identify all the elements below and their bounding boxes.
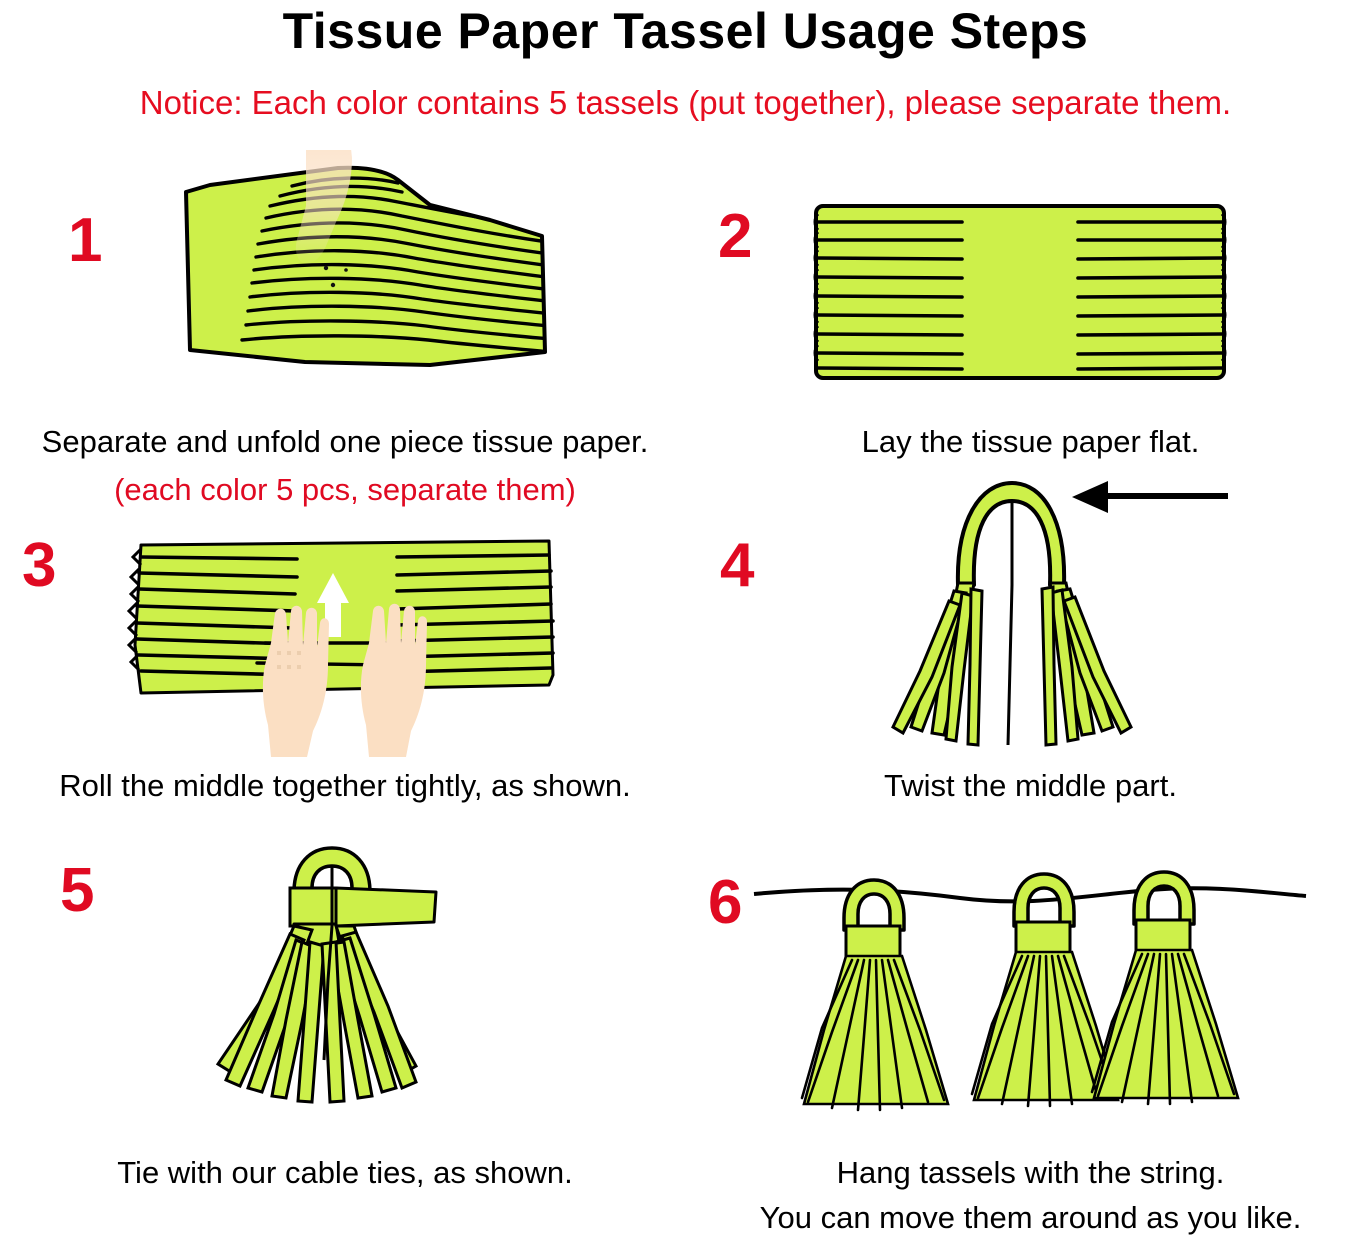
- step-1-caption: Separate and unfold one piece tissue pap…: [0, 424, 690, 461]
- step-number-5: 5: [60, 860, 94, 922]
- step-6-illustration: [750, 860, 1310, 1150]
- step-panel-3: 3: [0, 525, 690, 775]
- cable-tie: [290, 888, 436, 926]
- step-number-2: 2: [718, 206, 752, 268]
- step-5-caption: Tie with our cable ties, as shown.: [0, 1155, 690, 1192]
- step-panel-1: 1: [0, 150, 690, 420]
- step-panel-4: 4: [690, 465, 1371, 775]
- step-panel-5: 5: [0, 830, 690, 1150]
- step-number-1: 1: [68, 210, 102, 272]
- step-2-caption: Lay the tissue paper flat.: [690, 424, 1371, 461]
- step-number-4: 4: [720, 535, 754, 597]
- step-number-3: 3: [22, 535, 56, 597]
- page-title: Tissue Paper Tassel Usage Steps: [0, 2, 1371, 60]
- step-6-caption-sub: You can move them around as you like.: [690, 1200, 1371, 1237]
- step-1-illustration: [130, 150, 580, 400]
- step-3-caption: Roll the middle together tightly, as sho…: [0, 768, 690, 805]
- step-1-caption-sub: (each color 5 pcs, separate them): [0, 472, 690, 509]
- step-4-caption: Twist the middle part.: [690, 768, 1371, 805]
- step-6-caption: Hang tassels with the string.: [690, 1155, 1371, 1192]
- step-5-illustration: [190, 830, 530, 1130]
- pointer-arrow: [1072, 481, 1228, 513]
- step-4-illustration: [840, 465, 1240, 765]
- step-2-illustration: [810, 200, 1230, 385]
- step-panel-6: 6: [690, 860, 1371, 1160]
- step-3-illustration: [125, 525, 565, 760]
- step-panel-2: 2: [690, 150, 1371, 420]
- step-number-6: 6: [708, 872, 742, 934]
- notice-text: Notice: Each color contains 5 tassels (p…: [0, 84, 1371, 122]
- tassel-group: [802, 872, 1238, 1110]
